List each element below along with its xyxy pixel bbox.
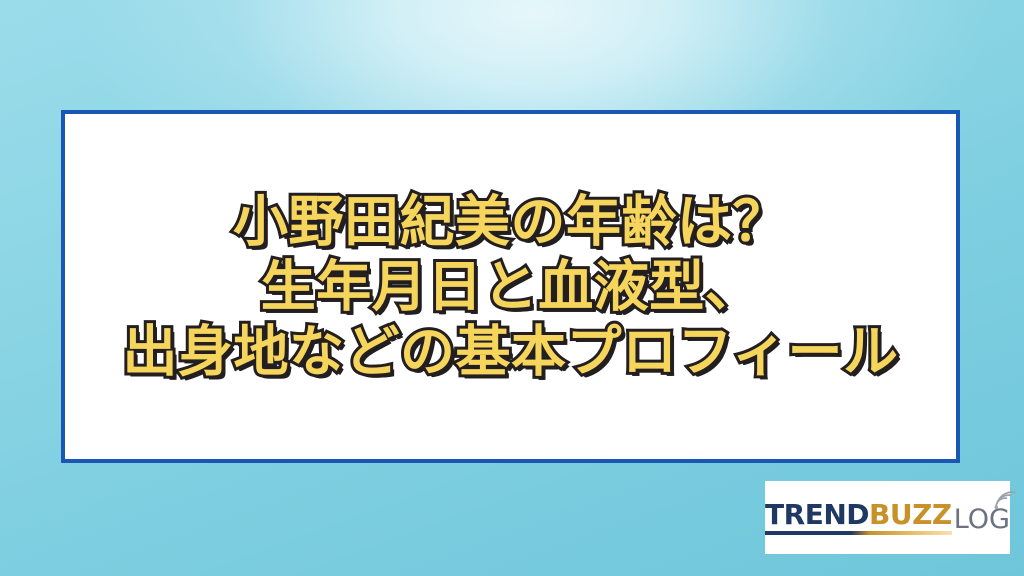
logo-text-trend: TREND: [765, 498, 869, 531]
page-title: 小野田紀美の年齢は？ 生年月日と血液型、 出身地などの基本プロフィール: [65, 189, 956, 384]
wifi-signal-icon: [990, 487, 1016, 509]
logo-wordmark: TRENDBUZZ: [765, 501, 952, 535]
logo-text-log: LOG: [954, 506, 1010, 533]
title-line-1: 小野田紀美の年齢は？: [75, 189, 946, 254]
title-line-2: 生年月日と血液型、: [75, 254, 946, 319]
slide-canvas: 小野田紀美の年齢は？ 生年月日と血液型、 出身地などの基本プロフィール TREN…: [0, 0, 1024, 576]
logo-underline-bar: [765, 531, 952, 535]
title-card: 小野田紀美の年齢は？ 生年月日と血液型、 出身地などの基本プロフィール: [61, 110, 960, 463]
logo-text-buzz: BUZZ: [869, 498, 952, 531]
title-line-3: 出身地などの基本プロフィール: [75, 319, 946, 384]
brand-logo[interactable]: TRENDBUZZ LOG: [765, 481, 1010, 554]
